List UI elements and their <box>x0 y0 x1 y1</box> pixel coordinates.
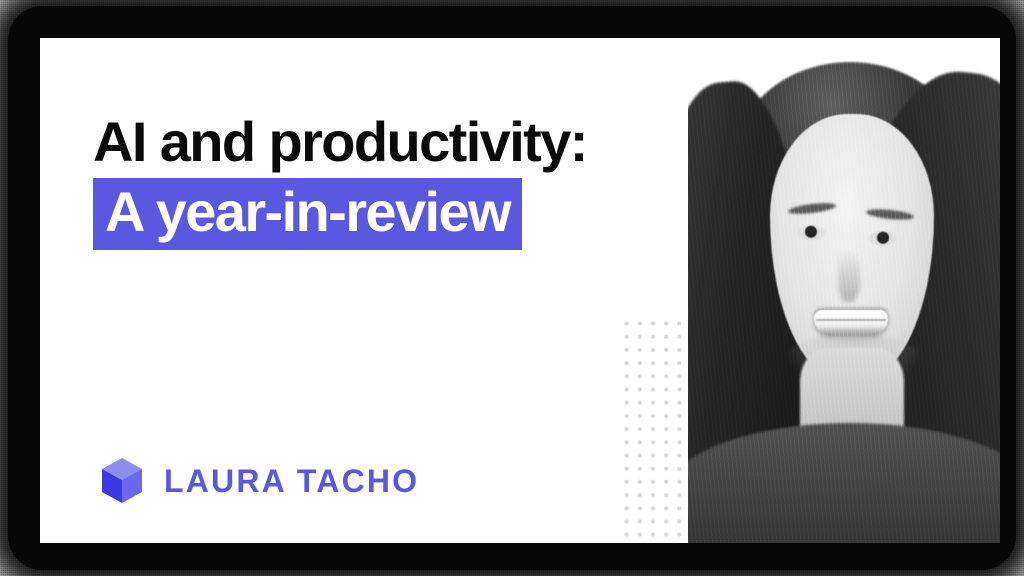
isometric-cube-icon <box>100 457 144 505</box>
brand-lockup: LAURA TACHO <box>100 457 419 505</box>
screenshot-stage: AI and productivity: A year-in-review LA… <box>0 0 1024 576</box>
slide-card: AI and productivity: A year-in-review LA… <box>40 38 1000 543</box>
headline-line-1: AI and productivity: <box>93 114 693 170</box>
video-player-frame: AI and productivity: A year-in-review LA… <box>8 6 1016 570</box>
portrait-photo <box>688 38 1000 543</box>
headline-line-2: A year-in-review <box>105 184 510 240</box>
brand-name: LAURA TACHO <box>164 463 419 500</box>
headline-highlight-band: A year-in-review <box>93 178 522 250</box>
photo-grayscale-layer <box>688 38 1000 543</box>
headline-block: AI and productivity: A year-in-review <box>93 114 693 250</box>
